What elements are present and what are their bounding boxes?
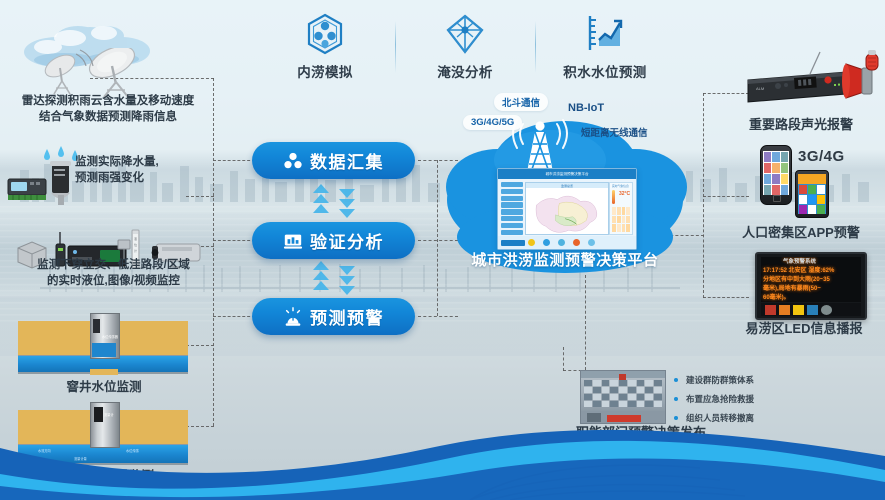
- government-building-icon: [580, 370, 666, 424]
- svg-text:ALM: ALM: [756, 86, 764, 91]
- authority-bullet: 布置应急抢险救援: [674, 393, 754, 405]
- manhole-water: [92, 343, 116, 357]
- pill-label: 预测预警: [310, 304, 384, 329]
- comm-tag-short-range: 短距离无线通信: [573, 123, 656, 141]
- platform-screen-menu[interactable]: [501, 182, 523, 235]
- bar-chart-icon: [283, 231, 303, 251]
- authority-bullet-list: 建设群防群策体系 布置应急抢险救援 组织人员转移撤离: [674, 374, 754, 431]
- caption-app-alert: 人口密集区APP预警: [716, 224, 885, 242]
- top-feature-inundation-analysis[interactable]: 淹没分析: [395, 13, 535, 81]
- smartphone-large-screen: [763, 151, 789, 195]
- connector-app-alert: [703, 196, 749, 197]
- caption-road-sensors: 监测下穿立交、低洼路段/区域 的实时液位,图像/视频监控: [6, 258, 221, 289]
- smartphone-small: [795, 170, 829, 218]
- caption-acoustic-alarm: 重要路段声光报警: [716, 116, 885, 134]
- connector-pill3-right: [418, 316, 458, 317]
- connector-pill-right-trunk: [437, 160, 438, 316]
- connector-to-pill-2: [213, 240, 255, 241]
- pipe-note-2: 水位传感: [126, 448, 139, 453]
- data-nodes-icon: [283, 151, 303, 171]
- led-footer-icons: [761, 303, 861, 316]
- led-line-4: 60毫米)。: [763, 294, 790, 302]
- platform-weather-temp: 32°C: [619, 191, 630, 197]
- top-feature-label: 内涝模拟: [297, 61, 353, 81]
- caption-radar-line1: 雷达探测积雨云含水量及移动速度: [8, 94, 208, 110]
- top-feature-label: 淹没分析: [437, 61, 493, 81]
- led-line-1: 17:17:52 北安区 湿度:62%: [763, 267, 834, 275]
- caption-rain-gauge: 监测实际降水量, 预测雨强变化: [75, 155, 225, 186]
- platform-screen-map[interactable]: 监测总览: [525, 182, 609, 235]
- platform-weather-panel: 实时气象信息 32°C: [609, 182, 633, 235]
- platform-map-title: 监测总览: [561, 184, 573, 188]
- platform-screen[interactable]: 城市洪涝监测预警决策平台 监测总览 实时气象信息 32°C: [497, 168, 637, 250]
- platform-weather-label: 实时气象信息: [612, 184, 629, 188]
- authority-bullet: 建设群防群策体系: [674, 374, 754, 386]
- pill-label: 验证分析: [310, 228, 384, 253]
- connector-rain-gauge: [186, 196, 214, 197]
- chart-trend-icon: [584, 13, 626, 55]
- led-line-2: 分地区有中到大雨(20~35: [763, 276, 830, 284]
- smartphone-small-screen: [798, 174, 826, 214]
- top-feature-label: 积水水位预测: [563, 61, 646, 81]
- caption-pipe-flow: 排水管网流量监测: [16, 468, 192, 485]
- connector-led-broadcast: [703, 297, 749, 298]
- pipe-note-3: 流量计量: [74, 456, 87, 461]
- pill-validation-analysis[interactable]: 验证分析: [252, 222, 415, 259]
- caption-manhole: 窨井水位监测: [20, 379, 188, 396]
- top-feature-strip: 内涝模拟 淹没分析 积水水位预: [255, 8, 675, 86]
- china-map-graphic: [526, 188, 608, 234]
- authority-bullet: 组织人员转移撤离: [674, 412, 754, 424]
- diamond-net-icon: [444, 13, 486, 55]
- platform-screen-header: 城市洪涝监测预警决策平台: [545, 172, 588, 177]
- svg-text:计: 计: [134, 248, 137, 253]
- pipe-note-1: 水流方向: [38, 448, 51, 453]
- top-feature-water-level-forecast[interactable]: 积水水位预测: [535, 13, 675, 81]
- flow-arrows-updown-1: [307, 182, 363, 220]
- caption-rain-gauge-line1: 监测实际降水量,: [75, 155, 225, 171]
- pill-data-collection[interactable]: 数据汇集: [252, 142, 415, 179]
- manhole-level-diagram: 水位传感器: [18, 313, 188, 375]
- pipe-flow-diagram: 流量计 水流方向 水位传感 流量计量: [18, 402, 188, 464]
- app-network-badge: 3G/4G: [798, 148, 845, 165]
- smartphone-large: [760, 145, 792, 205]
- caption-radar-line2: 结合气象数据预测降雨信息: [8, 110, 208, 126]
- pipe-sediment: [90, 369, 118, 375]
- pill-forecast-warning[interactable]: 预测预警: [252, 298, 415, 335]
- connector-to-pill-3: [213, 316, 255, 317]
- led-header: 气象预警系统: [783, 258, 816, 266]
- pill-label: 数据汇集: [310, 148, 384, 173]
- pipe-device-label: 流量计: [104, 412, 114, 417]
- connector-pipe-flow: [186, 426, 214, 427]
- caption-road-sensors-line1: 监测下穿立交、低洼路段/区域: [6, 258, 221, 274]
- svg-text:位: 位: [134, 242, 137, 247]
- hex-cube-icon: [305, 13, 345, 55]
- caption-rain-gauge-line2: 预测雨强变化: [75, 171, 225, 187]
- connector-manhole: [186, 345, 214, 346]
- datalogger-icon: [6, 176, 48, 202]
- led-line-3: 毫米),局地有暴雨(50~: [763, 285, 821, 293]
- led-screen-icon: 气象预警系统 17:17:52 北安区 湿度:62% 分地区有中到大雨(20~3…: [755, 252, 867, 320]
- caption-led-broadcast: 易涝区LED信息播报: [716, 320, 885, 338]
- caption-radar: 雷达探测积雨云含水量及移动速度 结合气象数据预测降雨信息: [8, 94, 208, 125]
- radar-dish-icon: [20, 48, 160, 98]
- platform-title: 城市洪涝监测预警决策平台: [435, 249, 695, 270]
- connector-authority-vert: [563, 347, 564, 371]
- connector-bottom-trunk: [585, 275, 586, 370]
- svg-text:液: 液: [134, 236, 137, 241]
- level-sensor-device: [93, 319, 100, 333]
- siren-speaker-icon: ALM: [742, 48, 882, 116]
- comm-tag-beidou: 北斗通信: [494, 93, 548, 111]
- infographic-canvas: 内涝模拟 淹没分析 积水水位预: [0, 0, 885, 500]
- alarm-light-icon: [283, 307, 303, 327]
- top-feature-inner-flood-sim[interactable]: 内涝模拟: [255, 13, 395, 81]
- connector-left-trunk: [213, 78, 214, 426]
- flow-meter-device: [94, 407, 103, 422]
- flow-arrows-updown-2: [307, 259, 363, 297]
- caption-road-sensors-line2: 的实时液位,图像/视频监控: [6, 274, 221, 290]
- signal-tower-icon: [505, 114, 575, 176]
- manhole-device-label: 水位传感器: [102, 334, 118, 339]
